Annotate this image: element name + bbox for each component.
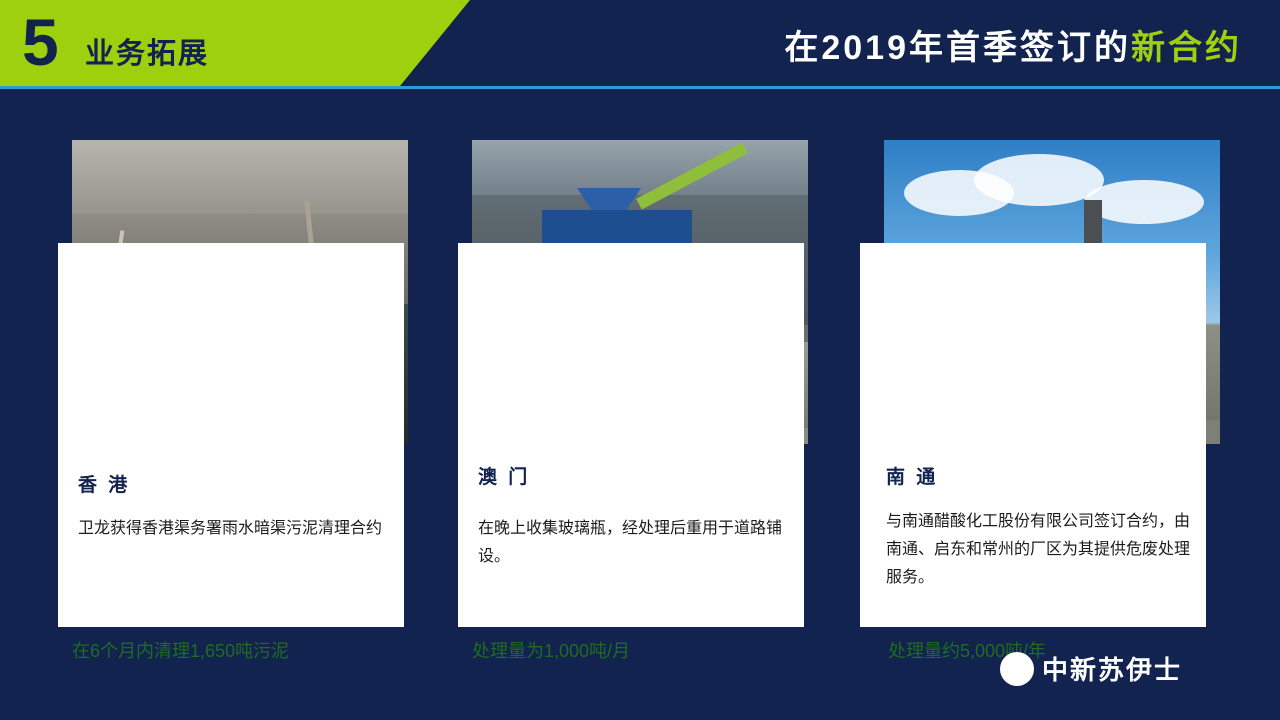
card-body-nantong: 与南通醋酸化工股份有限公司签订合约，由南通、启东和常州的厂区为其提供危废处理服务…: [886, 508, 1204, 592]
slide-header: 5 业务拓展 在2019年首季签订的新合约: [0, 0, 1280, 86]
photo1-beam: [72, 140, 408, 214]
photo3-cloud-3: [1084, 180, 1204, 224]
section-number: 5: [22, 6, 59, 78]
section-label: 业务拓展: [85, 30, 209, 72]
card-body-macau: 在晚上收集玻璃瓶，经处理后重用于道路铺设。: [478, 515, 786, 571]
card-title-nantong: 南 通: [886, 462, 938, 489]
card-title-hong-kong: 香 港: [78, 470, 130, 497]
slide-title: 在2019年首季签订的新合约: [784, 20, 1242, 69]
caption-hong-kong: 在6个月内清理1,650吨污泥: [72, 637, 289, 663]
header-green-banner: [0, 0, 470, 86]
header-divider: [0, 86, 1280, 89]
wechat-circle-icon: [1000, 652, 1034, 686]
footer-logo: 中新苏伊士: [1000, 650, 1182, 687]
slide-title-main: 在2019年首季签订的: [784, 29, 1131, 67]
slide-title-highlight: 新合约: [1131, 29, 1242, 67]
card-title-macau: 澳 门: [478, 462, 530, 489]
footer-logo-text: 中新苏伊士: [1042, 650, 1182, 687]
card-body-hong-kong: 卫龙获得香港渠务署雨水暗渠污泥清理合约: [78, 515, 386, 543]
caption-macau: 处理量为1,000吨/月: [472, 637, 630, 663]
photo2-roof: [472, 140, 808, 195]
card-hong-kong: [58, 243, 404, 627]
